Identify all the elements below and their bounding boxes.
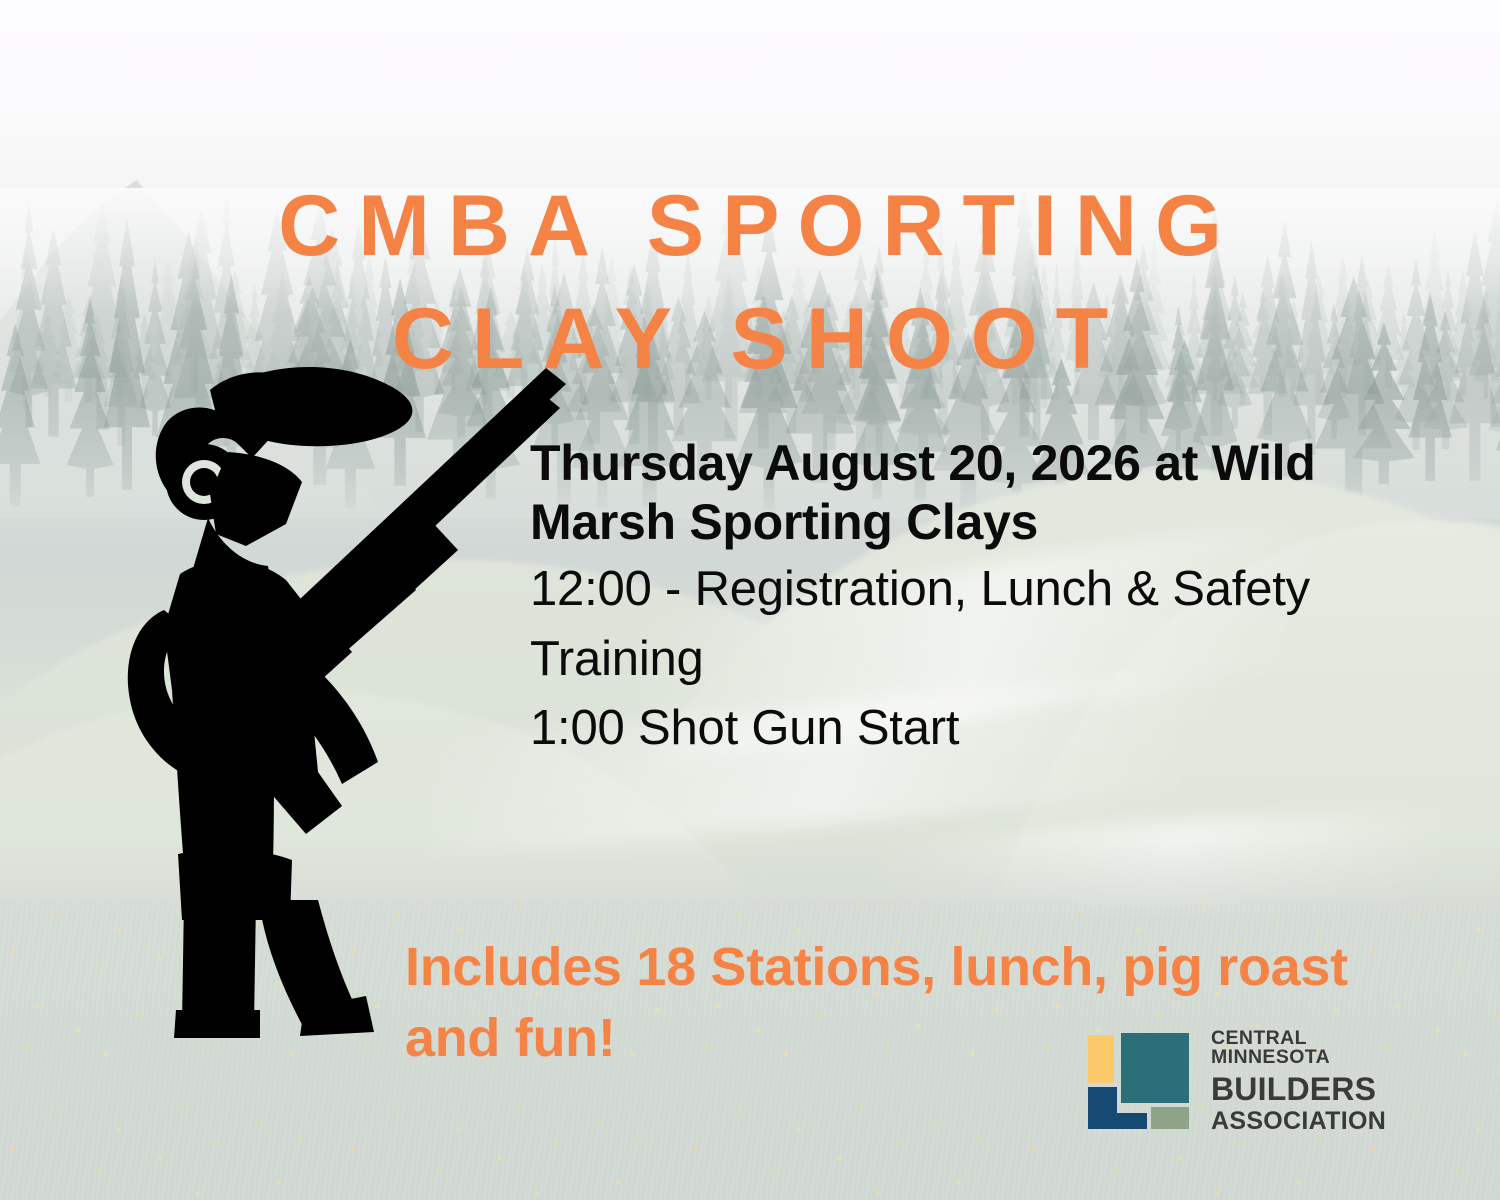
logo-square-sage [1151, 1107, 1189, 1129]
logo-square-teal [1121, 1033, 1189, 1103]
logo-square-yellow [1088, 1035, 1114, 1083]
event-schedule: 12:00 - Registration, Lunch & Safety Tra… [530, 555, 1380, 764]
cmba-logo-mark [1085, 1029, 1197, 1133]
event-details: Thursday August 20, 2026 at Wild Marsh S… [530, 434, 1380, 764]
poster-canvas: CMBA SPORTING CLAY SHOOT [0, 0, 1500, 1200]
logo-line-association: ASSOCIATION [1211, 1109, 1415, 1134]
title-line-1: CMBA SPORTING [0, 170, 1500, 284]
logo-line-builders: BUILDERS [1211, 1073, 1415, 1105]
cmba-logo-text: CENTRAL MINNESOTA BUILDERS ASSOCIATION [1211, 1029, 1415, 1134]
logo-line-central-minnesota: CENTRAL MINNESOTA [1211, 1029, 1415, 1068]
cmba-logo: CENTRAL MINNESOTA BUILDERS ASSOCIATION [1085, 1025, 1415, 1137]
event-headline: Thursday August 20, 2026 at Wild Marsh S… [530, 434, 1380, 551]
